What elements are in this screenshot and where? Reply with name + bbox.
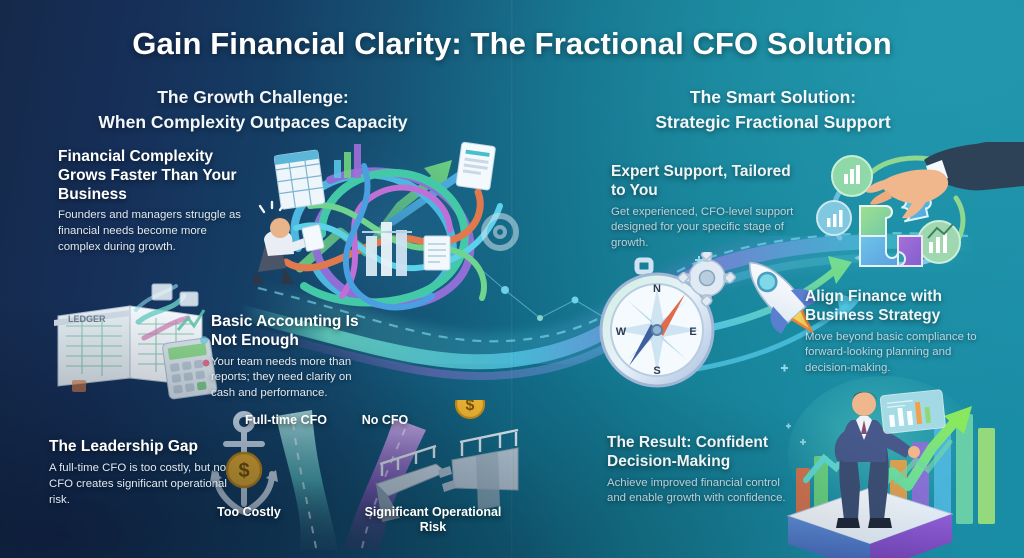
right-column-heading: The Smart Solution: Strategic Fractional…: [538, 85, 1008, 135]
block-align-finance: Align Finance with Business Strategy Mov…: [805, 288, 983, 377]
page-title: Gain Financial Clarity: The Fractional C…: [0, 26, 1024, 62]
block-financial-complexity-heading: Financial Complexity Grows Faster Than Y…: [58, 148, 244, 204]
compass-gear-rocket-illustration: N S E W: [585, 252, 815, 407]
compass-south-label: S: [653, 365, 660, 377]
callout-significant-operational-risk: Significant Operational Risk: [360, 505, 506, 536]
tangled-knot-illustration: [238, 136, 538, 326]
gear-icon: [677, 252, 736, 307]
anchor-coin-symbol: $: [238, 460, 249, 482]
right-column-heading-line1: The Smart Solution:: [538, 85, 1008, 110]
block-leadership-gap-heading: The Leadership Gap: [49, 438, 229, 457]
left-column-heading: The Growth Challenge: When Complexity Ou…: [18, 85, 488, 135]
hand-puzzle-illustration: [806, 142, 1024, 278]
callout-no-cfo: No CFO: [352, 413, 418, 428]
compass-east-label: E: [689, 326, 696, 338]
block-leadership-gap: The Leadership Gap A full-time CFO is to…: [49, 438, 229, 509]
block-expert-support-heading: Expert Support, Tailored to You: [611, 163, 807, 201]
block-basic-accounting-heading: Basic Accounting Is Not Enough: [211, 313, 363, 351]
compass-north-label: N: [653, 283, 661, 295]
block-leadership-gap-body: A full-time CFO is too costly, but no CF…: [49, 461, 229, 509]
callout-too-costly: Too Costly: [193, 505, 305, 520]
businessman-growth-illustration: [766, 372, 1024, 558]
callout-full-time-cfo: Full-time CFO: [243, 413, 329, 428]
block-basic-accounting: Basic Accounting Is Not Enough Your team…: [211, 313, 363, 402]
infographic-poster: LEDGER: [0, 0, 1024, 558]
left-column-heading-line1: The Growth Challenge:: [18, 85, 488, 110]
block-the-result-heading: The Result: Confident Decision-Making: [607, 434, 797, 472]
block-expert-support-body: Get experienced, CFO-level support desig…: [611, 205, 807, 253]
block-the-result-body: Achieve improved financial control and e…: [607, 476, 797, 508]
compass-west-label: W: [616, 326, 627, 338]
block-basic-accounting-body: Your team needs more than reports; they …: [211, 355, 363, 403]
block-financial-complexity: Financial Complexity Grows Faster Than Y…: [58, 148, 244, 256]
block-align-finance-heading: Align Finance with Business Strategy: [805, 288, 983, 326]
ledger-book-illustration: LEDGER: [52, 282, 222, 400]
ledger-book-label: LEDGER: [68, 314, 106, 324]
block-expert-support: Expert Support, Tailored to You Get expe…: [611, 163, 807, 252]
panel-divider: [511, 0, 514, 558]
block-financial-complexity-body: Founders and managers struggle as financ…: [58, 208, 244, 256]
right-column-heading-line2: Strategic Fractional Support: [538, 110, 1008, 135]
left-column-heading-line2: When Complexity Outpaces Capacity: [18, 110, 488, 135]
block-the-result: The Result: Confident Decision-Making Ac…: [607, 434, 797, 507]
block-align-finance-body: Move beyond basic compliance to forward-…: [805, 330, 983, 378]
bridge-coin-symbol: $: [466, 400, 475, 414]
